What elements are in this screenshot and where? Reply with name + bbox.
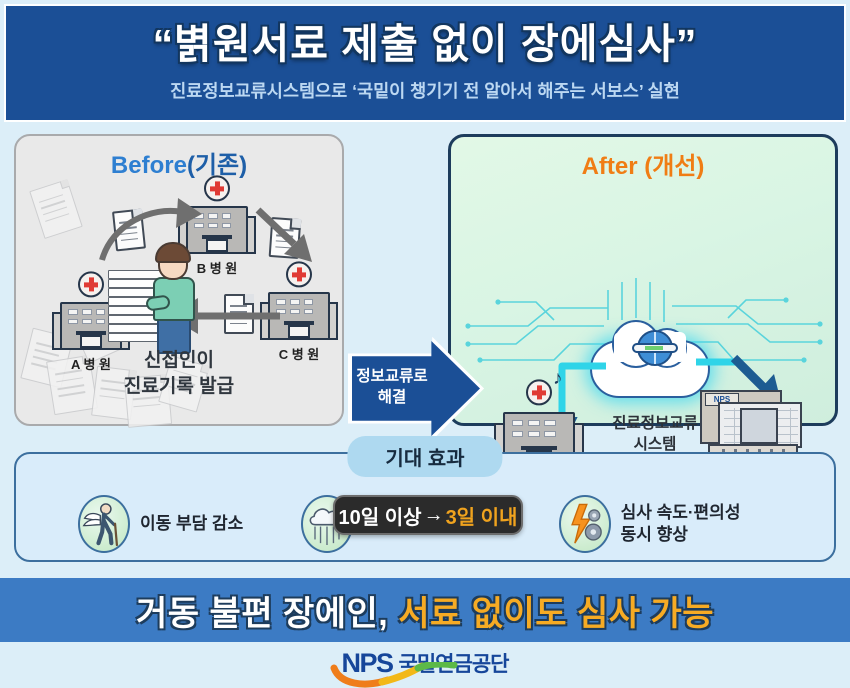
banner-text-white: 거동 불편 장에인, <box>136 595 388 633</box>
badge-arrow: → <box>422 504 446 527</box>
effect-label-mobility: 이동 부담 감소 <box>140 513 243 535</box>
processing-time-badge: 10일 이상 → 3일 이내 <box>333 495 523 535</box>
after-label-en: After <box>582 153 638 180</box>
before-caption-line2: 진료기록 발급 <box>124 374 234 400</box>
effect-label-speed-line1: 심사 속도·편의성 <box>621 502 741 524</box>
bottom-banner-text: 거동 불편 장에인, 서료 없이도 심사 가능 <box>136 586 714 635</box>
after-label-kr: (개선) <box>644 153 704 180</box>
expected-effects-tab: 기대 효과 <box>347 436 502 477</box>
comparison-section: Before(기존) <box>0 126 850 434</box>
bolt-gears-icon <box>559 495 611 553</box>
cta-line2: 해결 <box>354 388 430 409</box>
effect-item-speed: 심사 속도·편의성 동시 향상 <box>559 495 741 553</box>
banner-text-orange: 서료 없이도 심사 가능 <box>398 595 714 633</box>
header-banner: “볅원서료 제출 없이 장에심사” 진료정보교류시스템으로 ‘국밑이 챙기기 전… <box>4 4 846 122</box>
solution-arrow-text: 정보교류로 해결 <box>354 367 430 409</box>
music-note-icon: ♪ <box>553 368 563 390</box>
before-panel: Before(기존) <box>14 134 344 426</box>
hospital-c-label: C 병 원 <box>279 344 320 363</box>
red-cross-icon <box>78 271 104 297</box>
building-core <box>740 408 778 444</box>
red-cross-icon <box>204 175 230 201</box>
applicant-person-icon <box>142 234 212 356</box>
effect-label-speed: 심사 속도·편의성 동시 향상 <box>621 502 741 546</box>
hospital-door <box>288 325 310 338</box>
data-bar-icon <box>632 343 678 353</box>
solution-arrow: 정보교류로 해결 <box>352 341 480 436</box>
effect-item-mobility: 이동 부담 감소 <box>78 495 243 553</box>
page-title: “볅원서료 제출 없이 장에심사” <box>153 23 698 66</box>
red-cross-icon <box>526 379 552 405</box>
hospital-a-label: A 병 원 <box>71 354 111 373</box>
hospital-door <box>80 335 102 348</box>
effect-label-speed-line2: 동시 향상 <box>621 524 741 546</box>
badge-old-duration: 10일 이상 <box>339 501 422 530</box>
elderly-person-with-cane-icon <box>78 495 130 553</box>
bottom-banner: 거동 불편 장에인, 서료 없이도 심사 가능 <box>0 578 850 642</box>
cta-line1: 정보교류로 <box>354 367 430 388</box>
flow-arrow-b-to-c <box>254 202 320 268</box>
person-hair <box>155 242 191 263</box>
before-panel-label: Before(기존) <box>16 145 342 180</box>
footer: NPS 국밑연금공단 <box>0 642 850 684</box>
page-subtitle: 진료정보교류시스템으로 ‘국밑이 챙기기 전 알아서 해주는 서보스’ 실현 <box>170 78 680 103</box>
before-caption-line1: 신접인이 <box>124 348 234 374</box>
after-panel-label: After (개선) <box>451 146 835 181</box>
before-label-en: Before <box>111 152 187 179</box>
logo-mark: NPS <box>342 648 393 679</box>
nps-logo: NPS 국밑연금공단 <box>342 648 509 679</box>
before-caption: 신접인이 진료기록 발급 <box>124 348 234 399</box>
paper-decoration <box>29 179 82 239</box>
badge-new-duration: 3일 이내 <box>446 501 518 530</box>
